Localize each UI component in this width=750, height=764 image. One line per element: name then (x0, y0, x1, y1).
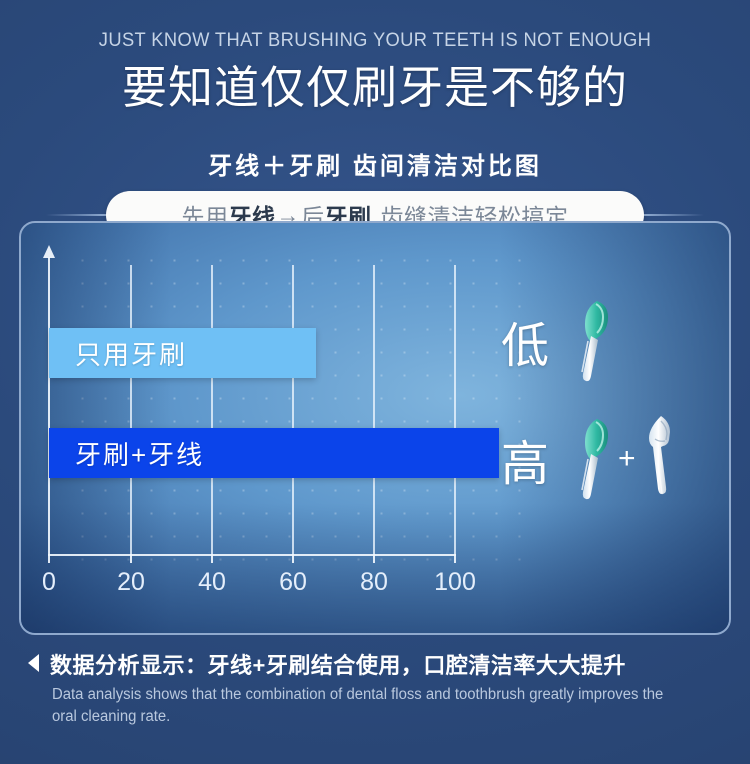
x-tick-label-60: 60 (279, 568, 307, 597)
x-tick-100 (454, 554, 456, 563)
page-title: 要知道仅仅刷牙是不够的 (0, 62, 750, 114)
floss-pick-icon (641, 413, 681, 505)
y-axis-arrow-icon (43, 245, 55, 258)
chart-legend: 低 (501, 293, 711, 543)
x-tick-label-20: 20 (117, 568, 145, 597)
x-tick-80 (373, 554, 375, 563)
promo-page: JUST KNOW THAT BRUSHING YOUR TEETH IS NO… (0, 0, 750, 764)
page-subtitle: 牙线＋牙刷 齿间清洁对比图 (0, 146, 750, 181)
header-english-line: JUST KNOW THAT BRUSHING YOUR TEETH IS NO… (23, 29, 728, 52)
gridline-100 (454, 265, 456, 555)
bar-label-toothbrush-only: 只用牙刷 (49, 335, 187, 372)
x-axis (48, 554, 456, 556)
footer-english-text: Data analysis shows that the combination… (52, 684, 666, 728)
triangle-left-icon (28, 654, 39, 672)
y-axis (48, 257, 50, 555)
pill-divider-right (634, 214, 704, 216)
footer-chinese-text: 数据分析显示：牙线+牙刷结合使用，口腔清洁率大大提升 (50, 648, 626, 680)
legend-icons-high: + (573, 413, 681, 505)
toothbrush-icon (573, 295, 613, 387)
x-tick-0 (48, 554, 50, 563)
x-tick-60 (292, 554, 294, 563)
x-tick-label-80: 80 (360, 568, 388, 597)
gridline-60 (292, 265, 294, 555)
x-tick-label-0: 0 (42, 568, 56, 597)
legend-row-low: 低 (501, 293, 711, 388)
legend-icons-low (573, 295, 613, 387)
bar-toothbrush-only: 只用牙刷 (49, 328, 316, 378)
gridline-80 (373, 265, 375, 555)
chart-frame: 0 20 40 60 80 100 只用牙刷 牙刷+牙线 低 (19, 221, 731, 635)
legend-rating-high: 高 (501, 424, 573, 494)
legend-rating-low: 低 (501, 306, 573, 376)
toothbrush-icon (573, 413, 613, 505)
x-tick-40 (211, 554, 213, 563)
plus-icon: + (618, 442, 636, 476)
bar-label-toothbrush-plus-floss: 牙刷+牙线 (49, 435, 204, 472)
legend-row-high: 高 (501, 411, 711, 506)
x-tick-label-100: 100 (434, 568, 476, 597)
x-tick-20 (130, 554, 132, 563)
gridline-40 (211, 265, 213, 555)
bar-toothbrush-plus-floss: 牙刷+牙线 (49, 428, 499, 478)
x-tick-label-40: 40 (198, 568, 226, 597)
gridline-20 (130, 265, 132, 555)
